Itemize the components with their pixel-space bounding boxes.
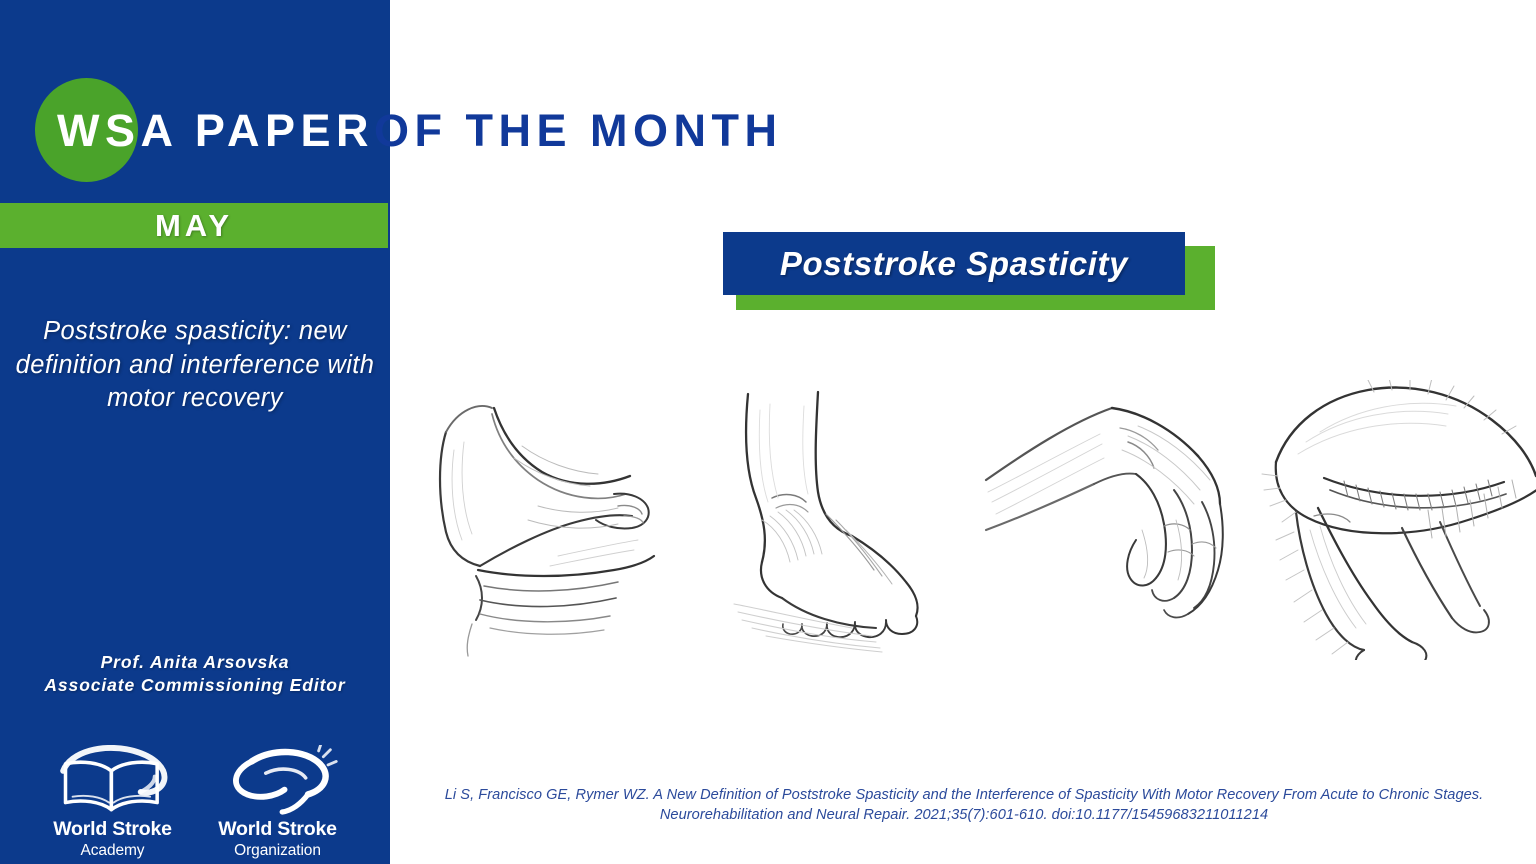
topic-banner: Poststroke Spasticity [723,232,1215,310]
page-title-highlight: WSA PAPER [57,105,374,157]
illustration-strip [400,380,1536,670]
flexed-wrist-hand-illustration [978,380,1243,660]
organization-logo-line2: Organization [207,841,348,860]
page-title-rest: OF THE MONTH [374,105,782,157]
world-stroke-academy-logo: World Stroke Academy [42,762,183,860]
brain-swoosh-icon [207,762,348,818]
flexed-elbow-illustration [418,380,693,660]
logo-row: World Stroke Academy [42,748,348,860]
author-block: Prof. Anita Arsovska Associate Commissio… [8,651,382,697]
author-role: Associate Commissioning Editor [8,674,382,697]
month-label: MAY [155,208,233,244]
slide-canvas: MAY Poststroke spasticity: new definitio… [0,0,1536,864]
adducted-legs-illustration [1252,380,1536,660]
academy-logo-line2: Academy [42,841,183,860]
author-name: Prof. Anita Arsovska [8,651,382,674]
page-title: WSA PAPER OF THE MONTH [57,100,783,162]
open-book-swoosh-icon [42,762,183,818]
organization-logo-line1: World Stroke [207,818,348,841]
banner-label: Poststroke Spasticity [780,245,1128,283]
academy-logo-line1: World Stroke [42,818,183,841]
month-band: MAY [0,203,388,248]
banner-blue-box: Poststroke Spasticity [723,232,1185,295]
equinovarus-foot-illustration [700,380,960,660]
citation-text: Li S, Francisco GE, Rymer WZ. A New Defi… [398,786,1530,825]
paper-title: Poststroke spasticity: new definition an… [14,315,376,416]
world-stroke-organization-logo: World Stroke Organization [207,762,348,860]
